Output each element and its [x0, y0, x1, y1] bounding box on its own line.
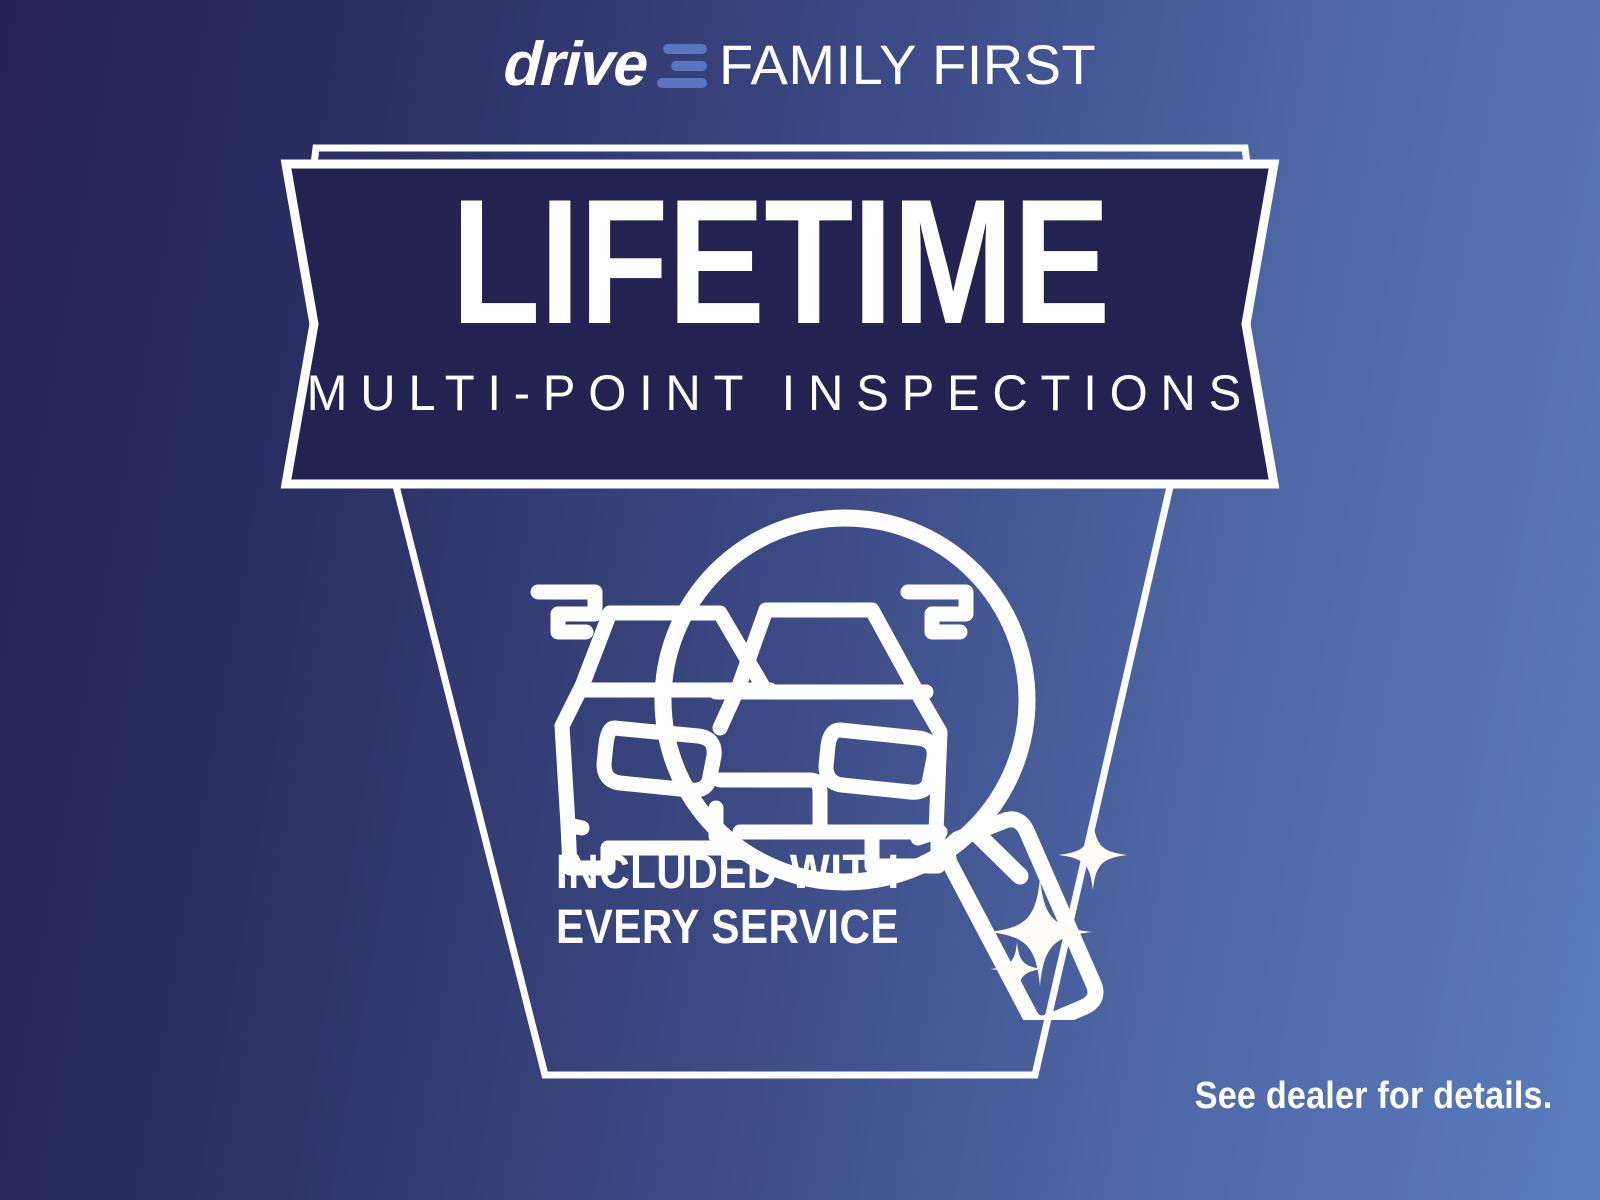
ribbon-banner: LIFETIME MULTI-POINT INSPECTIONS [272, 158, 1288, 490]
included-line-1: INCLUDED WITH [556, 845, 926, 900]
disclaimer-text: See dealer for details. [1194, 1075, 1552, 1118]
headline-lifetime: LIFETIME [451, 180, 1109, 344]
brand-lockup: drive FAMILY FIRST [504, 34, 1097, 96]
subheadline-inspections: MULTI-POINT INSPECTIONS [306, 364, 1253, 422]
brand-tagline: FAMILY FIRST [719, 37, 1096, 93]
car-front-lens-icon [716, 592, 966, 866]
ribbon-text-block: LIFETIME MULTI-POINT INSPECTIONS [272, 158, 1288, 490]
brand-wordmark: drive [502, 34, 648, 96]
brand-header: drive FAMILY FIRST [0, 0, 1600, 130]
stacked-bars-icon [657, 43, 707, 89]
included-copy: INCLUDED WITH EVERY SERVICE [556, 845, 926, 955]
included-line-2: EVERY SERVICE [556, 900, 926, 955]
